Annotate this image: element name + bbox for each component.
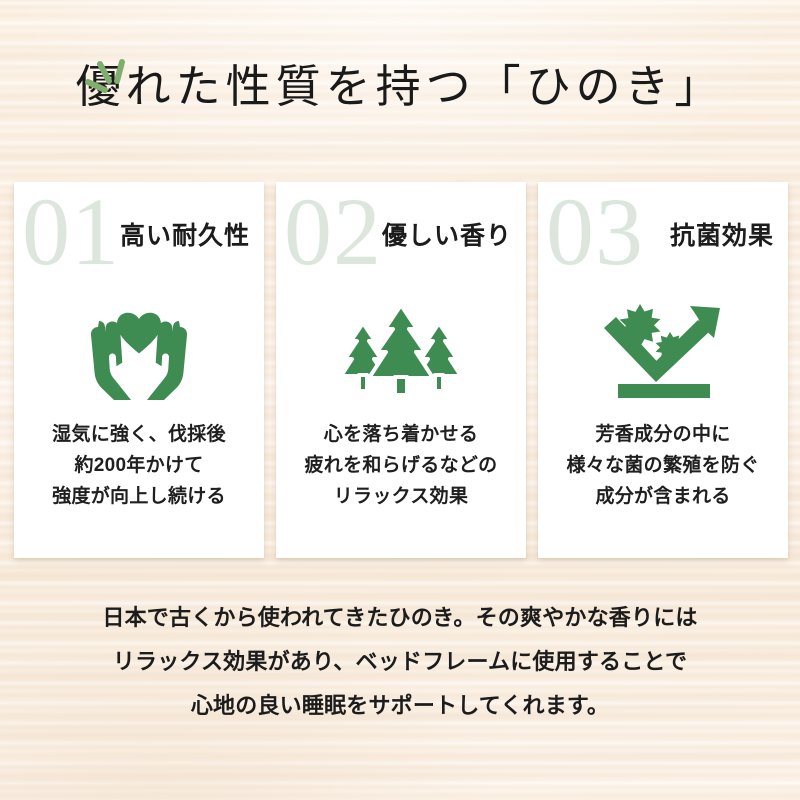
footer-description: 日本で古くから使われてきたひのき。その爽やかな香りには リラックス効果があり、ベ… <box>0 596 800 728</box>
card-icon-wrap <box>14 294 264 404</box>
hands-holding-heart-icon <box>78 297 200 401</box>
feature-card-antibacterial: 03 抗菌効果 芳香成分の中に 様々な菌の繁殖を防ぐ 成分が含まれる <box>538 182 788 558</box>
card-description: 湿気に強く、伐採後 約200年かけて 強度が向上し続ける <box>14 420 264 512</box>
card-description-line: 心を落ち着かせる <box>276 420 526 451</box>
feature-card-durability: 01 高い耐久性 湿気に強く、伐採後 約200年かけて 強度が向上し続ける <box>14 182 264 558</box>
feature-card-fragrance: 02 優しい香り 心を落ち着かせる 疲れを和らげるなどの リラックス効果 <box>276 182 526 558</box>
card-icon-wrap <box>276 294 526 404</box>
card-description-line: 芳香成分の中に <box>538 420 788 451</box>
card-description: 心を落ち着かせる 疲れを和らげるなどの リラックス効果 <box>276 420 526 512</box>
card-header: 01 高い耐久性 <box>14 182 264 300</box>
card-description-line: 疲れを和らげるなどの <box>276 451 526 482</box>
card-number: 03 <box>546 184 644 280</box>
antibacterial-shield-icon <box>598 298 728 400</box>
card-header: 02 優しい香り <box>276 182 526 300</box>
card-title: 高い耐久性 <box>120 216 250 252</box>
page-header: 優れた性質を持つ「ひのき」 <box>0 62 800 114</box>
footer-line: 日本で古くから使われてきたひのき。その爽やかな香りには <box>0 596 800 640</box>
card-description-line: 様々な菌の繁殖を防ぐ <box>538 451 788 482</box>
card-description: 芳香成分の中に 様々な菌の繁殖を防ぐ 成分が含まれる <box>538 420 788 512</box>
card-description-line: 約200年かけて <box>14 451 264 482</box>
card-title: 抗菌効果 <box>670 216 774 252</box>
card-icon-wrap <box>538 294 788 404</box>
card-number: 01 <box>22 184 120 280</box>
footer-line: リラックス効果があり、ベッドフレームに使用することで <box>0 640 800 684</box>
card-header: 03 抗菌効果 <box>538 182 788 300</box>
feature-card-list: 01 高い耐久性 湿気に強く、伐採後 約200年かけて 強度が向上し続ける 02… <box>14 182 788 558</box>
footer-line: 心地の良い睡眠をサポートしてくれます。 <box>0 684 800 728</box>
card-number: 02 <box>284 184 382 280</box>
pine-trees-icon <box>335 299 467 399</box>
card-description-line: リラックス効果 <box>276 482 526 513</box>
card-description-line: 強度が向上し続ける <box>14 482 264 513</box>
card-description-line: 成分が含まれる <box>538 482 788 513</box>
sparkle-lines-icon <box>78 54 138 110</box>
card-title: 優しい香り <box>382 216 512 252</box>
card-description-line: 湿気に強く、伐採後 <box>14 420 264 451</box>
